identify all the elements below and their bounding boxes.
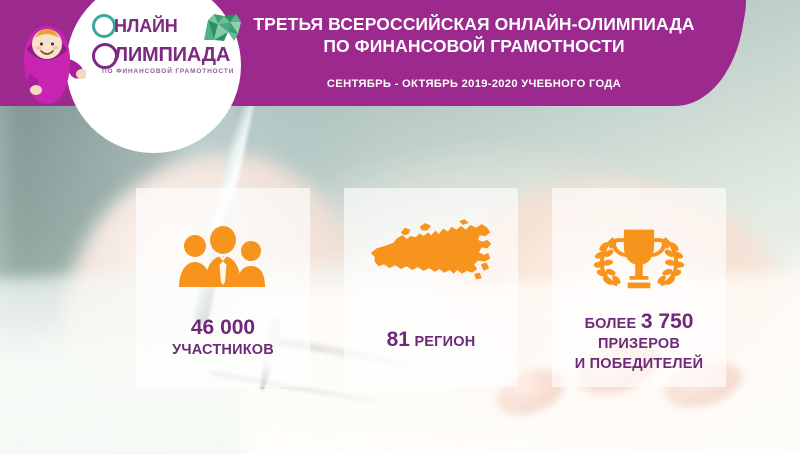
logo-word-online: НЛАЙН bbox=[114, 16, 178, 37]
stat-unit-participants: УЧАСТНИКОВ bbox=[172, 342, 274, 358]
stat-label-participants: 46 000 УЧАСТНИКОВ bbox=[136, 318, 310, 360]
page-title-line-1: ТРЕТЬЯ ВСЕРОССИЙСКАЯ ОНЛАЙН-ОЛИМПИАДА bbox=[253, 14, 694, 34]
stat-prefix-winners: БОЛЕЕ bbox=[585, 316, 637, 332]
stat-card-winners: БОЛЕЕ 3 750 ПРИЗЕРОВ И ПОБЕДИТЕЛЕЙ bbox=[552, 188, 726, 387]
logo-word-olympiad: ЛИМПИАДА bbox=[114, 44, 230, 67]
matryoshka-mascot bbox=[8, 12, 86, 108]
page-subtitle: СЕНТЯБРЬ - ОКТЯБРЬ 2019-2020 УЧЕБНОГО ГО… bbox=[252, 78, 696, 90]
page-title: ТРЕТЬЯ ВСЕРОССИЙСКАЯ ОНЛАЙН-ОЛИМПИАДА ПО… bbox=[252, 13, 696, 57]
stat-label-winners: БОЛЕЕ 3 750 ПРИЗЕРОВ И ПОБЕДИТЕЛЕЙ bbox=[552, 312, 726, 374]
stat-number-participants: 46 000 bbox=[191, 316, 255, 339]
page-title-line-2: ПО ФИНАНСОВОЙ ГРАМОТНОСТИ bbox=[252, 35, 696, 57]
stat-card-regions: 81 РЕГИОН bbox=[344, 188, 518, 387]
poster-canvas: НЛАЙН ЛИМПИАДА ПО ФИНАНСОВОЙ ГРАМОТНОСТИ bbox=[0, 0, 800, 454]
origami-dog-icon bbox=[200, 10, 244, 44]
stat-label-regions: 81 РЕГИОН bbox=[381, 330, 482, 352]
stat-number-regions: 81 bbox=[387, 328, 410, 351]
stat-unit-regions: РЕГИОН bbox=[414, 334, 475, 350]
stat-unit-winners: ПРИЗЕРОВ bbox=[598, 336, 680, 352]
people-group-icon bbox=[177, 222, 269, 294]
trophy-laurel-icon bbox=[586, 222, 692, 294]
logo-line-olympiad: ЛИМПИАДА bbox=[92, 42, 242, 68]
olympiad-logo[interactable]: НЛАЙН ЛИМПИАДА ПО ФИНАНСОВОЙ ГРАМОТНОСТИ bbox=[92, 12, 242, 86]
logo-tagline: ПО ФИНАНСОВОЙ ГРАМОТНОСТИ bbox=[102, 68, 234, 75]
stat-number-winners: 3 750 bbox=[641, 310, 694, 333]
logo-ring-teal-icon bbox=[92, 14, 116, 38]
stat-unit-winners-line2: И ПОБЕДИТЕЛЕЙ bbox=[558, 354, 720, 374]
russia-map-icon bbox=[369, 218, 493, 290]
stat-card-participants: 46 000 УЧАСТНИКОВ bbox=[136, 188, 310, 387]
